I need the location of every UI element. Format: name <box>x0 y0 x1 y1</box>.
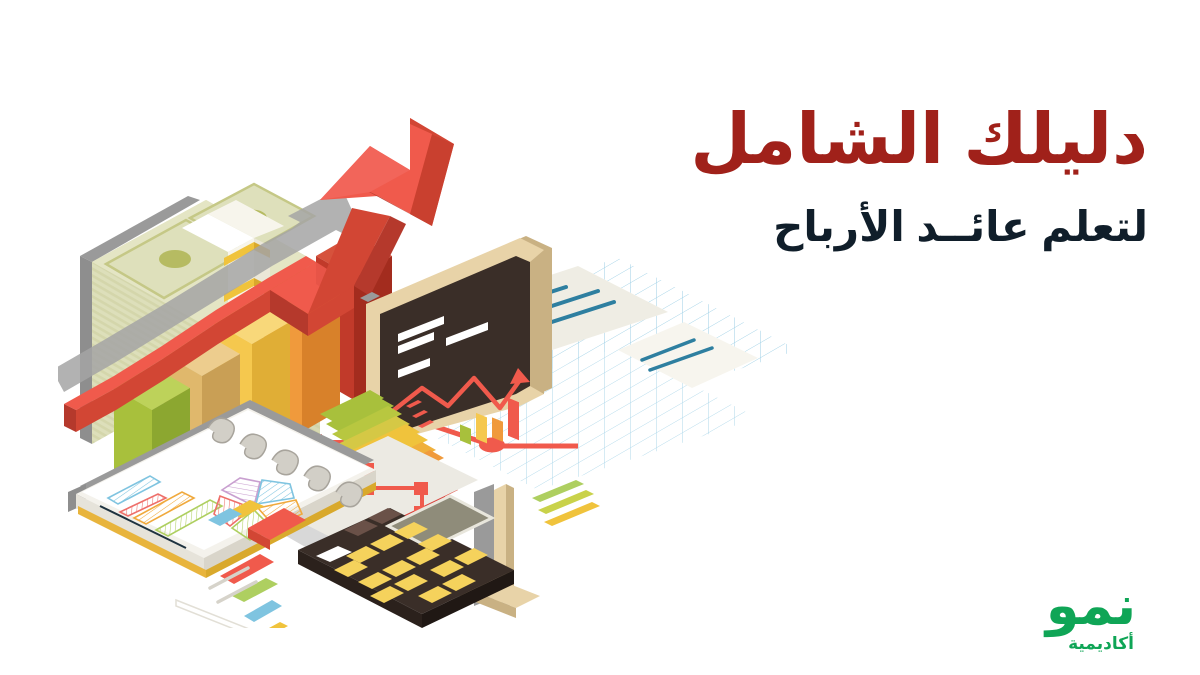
headline-block: دليلك الشامل لتعلم عائــد الأرباح <box>628 100 1148 253</box>
banner-canvas: دليلك الشامل لتعلم عائــد الأرباح نمو أك… <box>0 0 1200 675</box>
logo-subtitle: أكاديمية <box>1004 635 1172 652</box>
page-title: دليلك الشامل <box>628 100 1148 178</box>
logo-wordmark: نمو <box>1004 579 1172 633</box>
brand-logo[interactable]: نمو أكاديمية <box>1004 579 1172 663</box>
page-subtitle: لتعلم عائــد الأرباح <box>628 202 1148 252</box>
